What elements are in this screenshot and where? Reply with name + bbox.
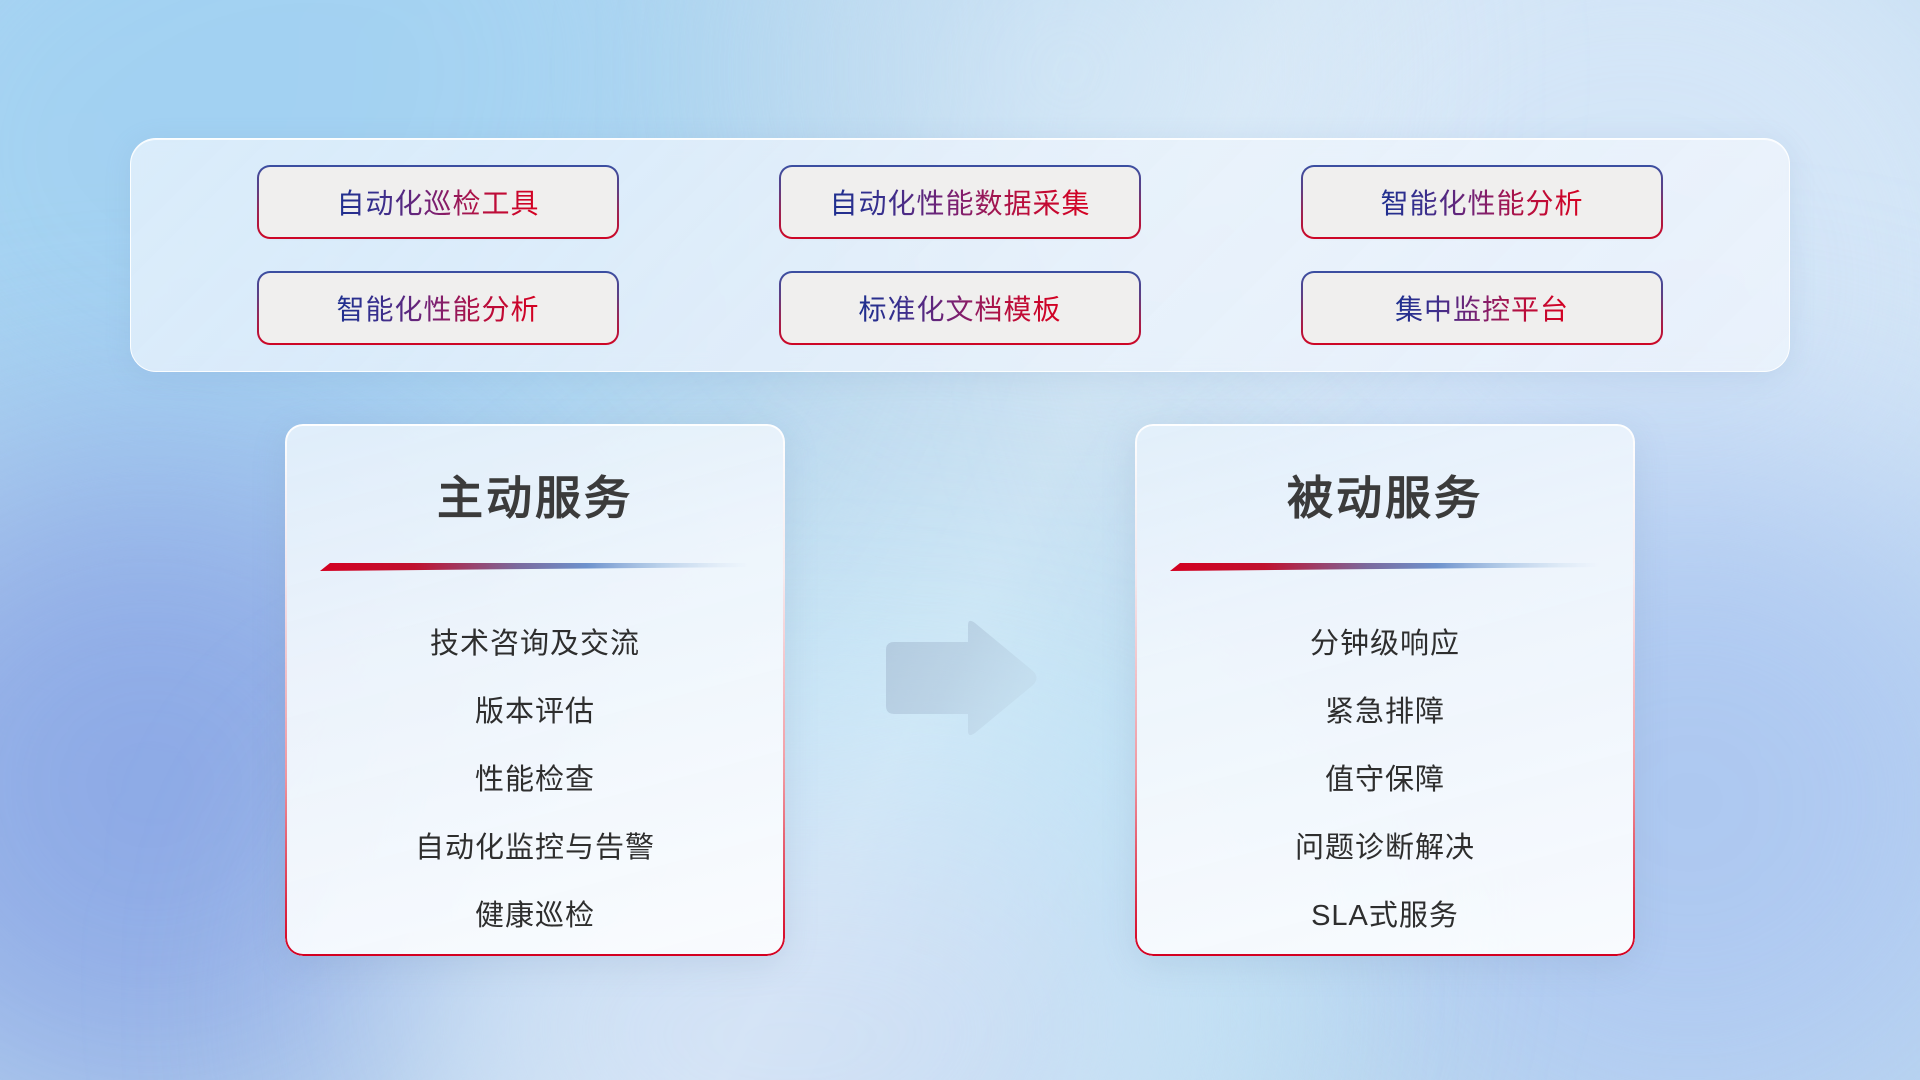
right-arrow-icon bbox=[880, 618, 1040, 738]
capability-pill-label: 智能化性能分析 bbox=[336, 288, 539, 328]
capability-pill[interactable]: 标准化文档模板 bbox=[781, 273, 1139, 343]
service-list-item: 紧急排障 bbox=[1135, 688, 1635, 730]
service-list-item: 问题诊断解决 bbox=[1135, 824, 1635, 866]
service-card-proactive: 主动服务 技术咨询及交流 版本评估 性能检查 bbox=[285, 424, 785, 956]
capability-pill[interactable]: 智能化性能分析 bbox=[259, 273, 617, 343]
service-item-list: 技术咨询及交流 版本评估 性能检查 自动化监控与告警 健康巡检 bbox=[285, 620, 785, 934]
service-list-item: 技术咨询及交流 bbox=[285, 620, 785, 662]
service-item-list: 分钟级响应 紧急排障 值守保障 问题诊断解决 SLA式服务 bbox=[1135, 620, 1635, 934]
card-divider bbox=[1170, 560, 1600, 572]
diagram-canvas: 自动化巡检工具 自动化性能数据采集 智能化性能分析 智能化性能分析 标准化文档模… bbox=[0, 0, 1920, 1080]
capability-pill[interactable]: 智能化性能分析 bbox=[1303, 167, 1661, 237]
capability-pill-label: 标准化文档模板 bbox=[858, 288, 1061, 328]
capability-pill-label: 自动化巡检工具 bbox=[336, 182, 539, 222]
capabilities-panel: 自动化巡检工具 自动化性能数据采集 智能化性能分析 智能化性能分析 标准化文档模… bbox=[130, 138, 1790, 372]
card-title: 主动服务 bbox=[285, 462, 785, 528]
service-list-item: 自动化监控与告警 bbox=[285, 824, 785, 866]
capability-pill[interactable]: 自动化巡检工具 bbox=[259, 167, 617, 237]
capability-pill[interactable]: 集中监控平台 bbox=[1303, 273, 1661, 343]
service-list-item: 分钟级响应 bbox=[1135, 620, 1635, 662]
capability-pill[interactable]: 自动化性能数据采集 bbox=[781, 167, 1139, 237]
capability-pill-label: 集中监控平台 bbox=[1395, 288, 1569, 328]
service-card-reactive: 被动服务 分钟级响应 紧急排障 值守保障 bbox=[1135, 424, 1635, 956]
service-list-item: 健康巡检 bbox=[285, 892, 785, 934]
capability-pill-label: 自动化性能数据采集 bbox=[829, 182, 1090, 222]
service-list-item: SLA式服务 bbox=[1135, 892, 1635, 934]
card-divider bbox=[320, 560, 750, 572]
service-list-item: 值守保障 bbox=[1135, 756, 1635, 798]
service-list-item: 版本评估 bbox=[285, 688, 785, 730]
capabilities-pill-grid: 自动化巡检工具 自动化性能数据采集 智能化性能分析 智能化性能分析 标准化文档模… bbox=[131, 139, 1789, 371]
card-title: 被动服务 bbox=[1135, 462, 1635, 528]
service-list-item: 性能检查 bbox=[285, 756, 785, 798]
capability-pill-label: 智能化性能分析 bbox=[1380, 182, 1583, 222]
